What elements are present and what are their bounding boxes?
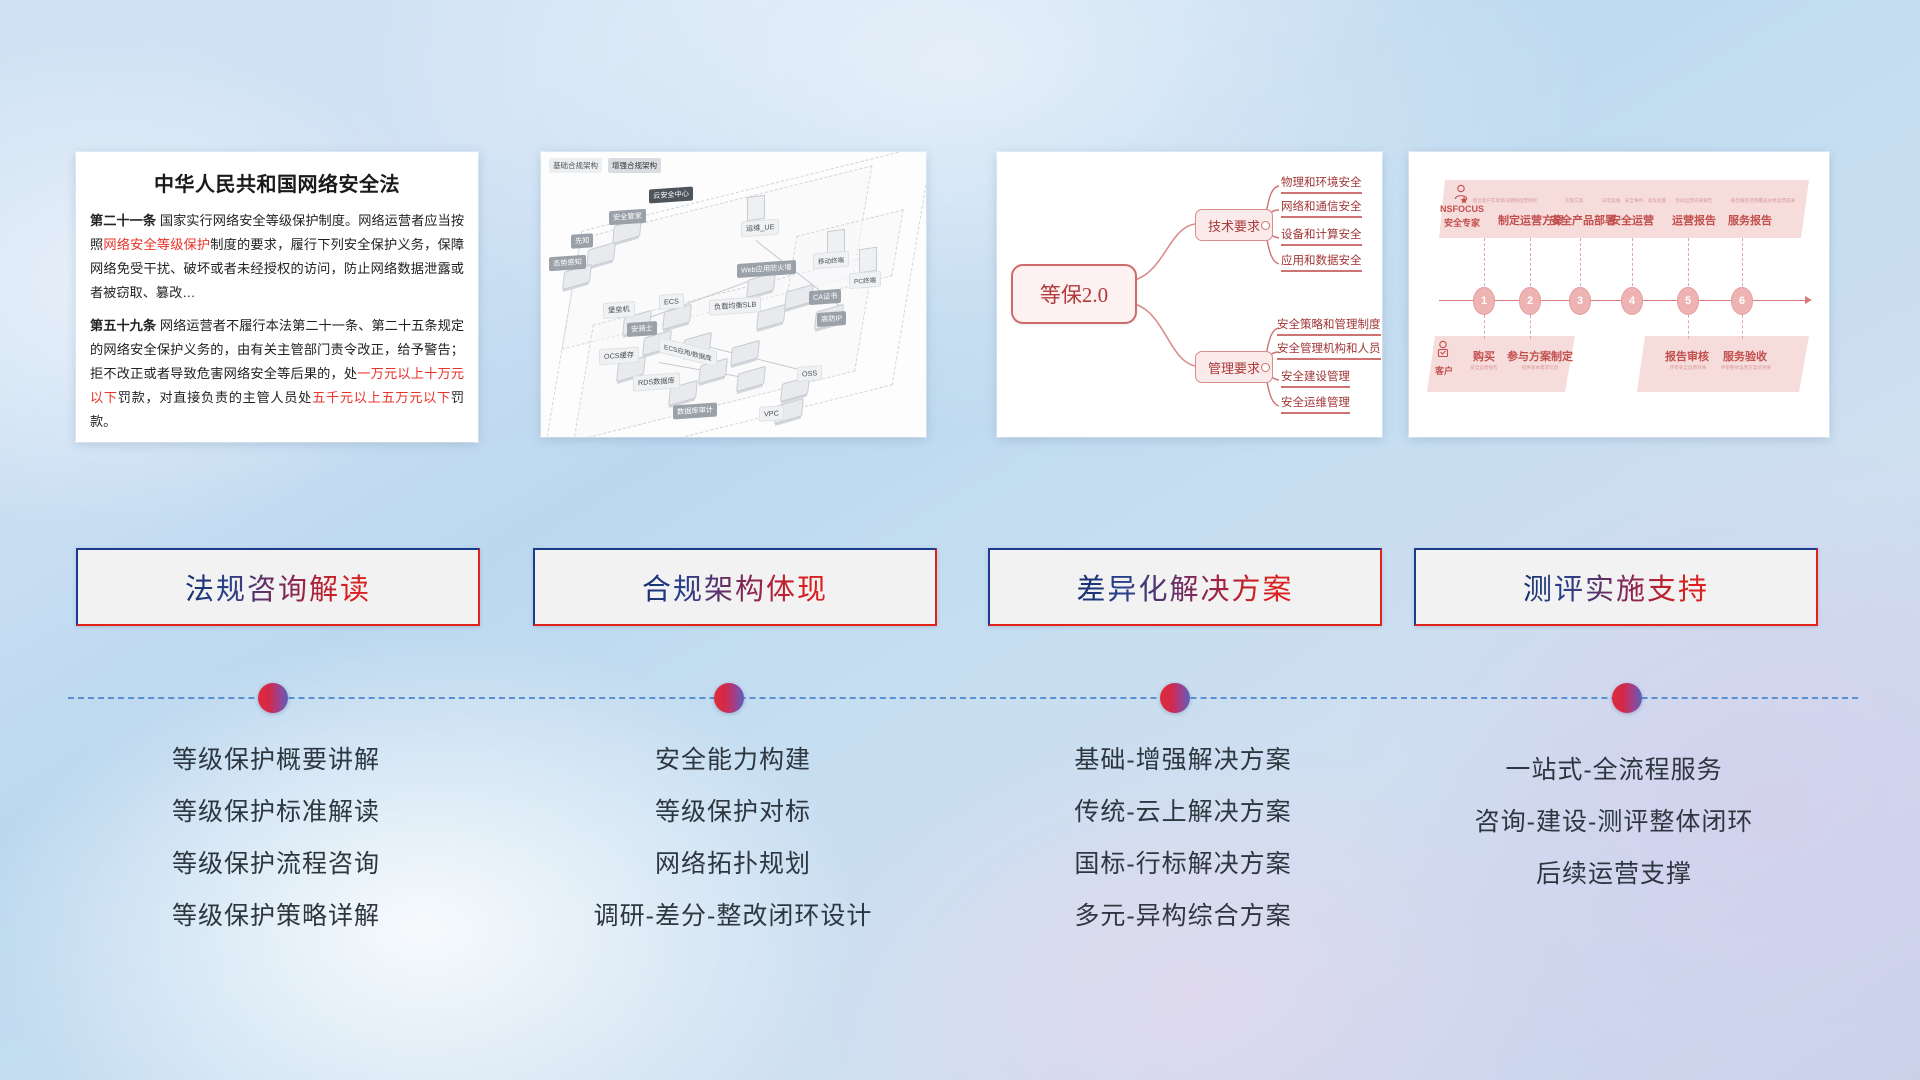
list-item: 后续运营支撑 <box>1414 862 1814 887</box>
arch-label-ocs-cache: OCS缓存 <box>599 347 639 366</box>
section-title-box-1[interactable]: 法规咨询解读 <box>76 548 480 626</box>
list-item: 安全能力构建 <box>533 748 933 773</box>
timeline-dash-3 <box>1580 238 1582 286</box>
list-item: 等级保护概要讲解 <box>76 748 476 773</box>
timeline-node-3[interactable]: 3 <box>1569 287 1591 315</box>
bottom-step-1-main: 购买 <box>1465 348 1503 364</box>
timeline-dash-1 <box>1484 238 1486 286</box>
arch-label-cloud-security-center: 云安全中心 <box>649 186 693 203</box>
customer-person-icon <box>1435 340 1451 360</box>
section-title-2: 合规架构体现 <box>642 566 828 608</box>
compliance-architecture-card[interactable]: 基础合规架构 增强合规架构 <box>541 152 926 437</box>
mindmap-leaf-construction-mgmt: 安全建设管理 <box>1281 368 1350 388</box>
timeline-dash-4 <box>1632 238 1634 286</box>
list-item: 等级保护标准解读 <box>76 800 476 825</box>
timeline-dash-b4 <box>1742 315 1744 339</box>
article-number-21: 第二十一条 <box>90 213 156 228</box>
list-item: 一站式-全流程服务 <box>1414 758 1814 783</box>
cybersecurity-law-card[interactable]: 中华人民共和国网络安全法 第二十一条 国家实行网络安全等级保护制度。网络运营者应… <box>76 152 478 442</box>
section-title-box-2[interactable]: 合规架构体现 <box>533 548 937 626</box>
timeline-node-2[interactable]: 2 <box>1519 287 1541 315</box>
arch-label-anqishi: 安骑士 <box>627 321 657 337</box>
preview-cards-row: 中华人民共和国网络安全法 第二十一条 国家实行网络安全等级保护制度。网络运营者应… <box>0 0 1920 460</box>
arch-icon-terminal-2 <box>859 247 877 274</box>
mindmap-root-node[interactable]: 等保2.0 <box>1011 264 1137 324</box>
expert-label-line2: 安全专家 <box>1439 216 1485 229</box>
timeline-arrow-icon <box>1805 296 1812 304</box>
timeline-node-4[interactable]: 4 <box>1621 287 1643 315</box>
list-item: 等级保护策略详解 <box>76 904 476 929</box>
arch-label-ca-cert: CA证书 <box>809 289 841 305</box>
bottom-step-3-main: 报告审核 <box>1661 348 1713 364</box>
timeline-dash-2 <box>1530 238 1532 286</box>
top-step-5-main: 服务报告 <box>1721 212 1779 228</box>
arch-label-oss: OSS <box>797 365 822 382</box>
bottom-step-2-main: 参与方案制定 <box>1507 348 1573 364</box>
top-step-1-sub: 结合客户实际情况明确运营目标 <box>1461 197 1549 203</box>
mindmap-leaf-app-data: 应用和数据安全 <box>1281 252 1362 272</box>
mindmap-leaf-ops-mgmt: 安全运维管理 <box>1281 394 1350 414</box>
customer-label: 客户 <box>1431 364 1457 377</box>
mindmap-leaf-policy-system: 安全策略和管理制度 <box>1277 316 1381 336</box>
section-title-1: 法规咨询解读 <box>185 566 371 608</box>
section-list-1: 等级保护概要讲解 等级保护标准解读 等级保护流程咨询 等级保护策略详解 <box>76 748 476 956</box>
bottom-step-4-main: 服务验收 <box>1719 348 1771 364</box>
mindmap-collapse-dot-management[interactable] <box>1261 363 1270 372</box>
architecture-diagram: 基础合规架构 增强合规架构 <box>541 152 926 437</box>
article-number-59: 第五十九条 <box>90 318 156 333</box>
timeline-band-expert <box>1439 180 1809 238</box>
timeline-dash-b3 <box>1688 315 1690 339</box>
timeline-marker-2[interactable] <box>714 683 744 713</box>
mindmap-leaf-device-compute: 设备和计算安全 <box>1281 226 1362 246</box>
arch-zone-outer <box>541 152 926 437</box>
section-title-box-4[interactable]: 测评实施支持 <box>1414 548 1818 626</box>
bottom-step-1-sub: 安全运营报告 <box>1457 364 1510 370</box>
tab-basic-compliance[interactable]: 基础合规架构 <box>549 158 602 173</box>
timeline-node-6[interactable]: 6 <box>1731 287 1753 315</box>
article-21-run-1-highlight: 网络安全等级保护 <box>103 237 210 252</box>
arch-label-bastion-host: 堡垒机 <box>603 301 635 319</box>
mindmap-leaf-physical-env: 物理和环境安全 <box>1281 174 1362 194</box>
list-item: 调研-差分-整改闭环设计 <box>533 904 933 929</box>
timeline-node-1[interactable]: 1 <box>1473 287 1495 315</box>
architecture-tabs: 基础合规架构 增强合规架构 <box>549 158 661 173</box>
arch-label-mobile-terminal: 移动终端 <box>813 251 849 270</box>
list-item: 多元-异构综合方案 <box>988 904 1378 929</box>
timeline-marker-1[interactable] <box>258 683 288 713</box>
arch-label-ecs: ECS <box>659 293 684 310</box>
arch-label-pc-terminal: PC终端 <box>849 271 881 289</box>
arch-label-security-steward: 安全管家 <box>609 209 646 226</box>
mindmap-leaf-org-personnel: 安全管理机构和人员 <box>1277 340 1381 360</box>
top-step-4-main: 运营报告 <box>1665 212 1723 228</box>
arch-icon-server-1 <box>747 195 765 222</box>
section-list-3: 基础-增强解决方案 传统-云上解决方案 国标-行标解决方案 多元-异构综合方案 <box>988 748 1378 956</box>
timeline-node-5[interactable]: 5 <box>1677 287 1699 315</box>
bottom-step-4-sub: 评审整体运营方案的效果 <box>1710 364 1782 370</box>
legal-paragraph-article-59: 第五十九条 网络运营者不履行本法第二十一条、第二十五条规定的网络安全保护义务的，… <box>90 314 464 434</box>
tab-enhanced-compliance[interactable]: 增强合规架构 <box>608 158 661 173</box>
section-title-4: 测评实施支持 <box>1523 566 1709 608</box>
mindmap-card[interactable]: 等保2.0 技术要求 管理要求 物理和环境安全 网络和通信安全 设备和计算安全 … <box>997 152 1382 437</box>
section-list-2: 安全能力构建 等级保护对标 网络拓扑规划 调研-差分-整改闭环设计 <box>533 748 933 956</box>
timeline-dash-b1 <box>1484 315 1486 339</box>
list-item: 基础-增强解决方案 <box>988 748 1378 773</box>
arch-label-rds: RDS数据库 <box>633 372 680 391</box>
timeline-marker-4[interactable] <box>1612 683 1642 713</box>
mindmap-diagram: 等保2.0 技术要求 管理要求 物理和环境安全 网络和通信安全 设备和计算安全 … <box>997 152 1382 437</box>
section-title-3: 差异化解决方案 <box>1076 566 1293 608</box>
mindmap-leaf-network-comm: 网络和通信安全 <box>1281 198 1362 218</box>
timeline-dash-5 <box>1688 238 1690 286</box>
bottom-step-2-sub: 提供基本需求信息 <box>1508 364 1572 370</box>
arch-label-situational-awareness: 态势感知 <box>549 255 586 272</box>
arch-label-anti-ddos-ip: 高防IP <box>817 311 846 327</box>
mindmap-collapse-dot-technical[interactable] <box>1261 221 1270 230</box>
arch-label-xianzhi: 先知 <box>571 233 593 249</box>
section-title-box-3[interactable]: 差异化解决方案 <box>988 548 1382 626</box>
timeline-dashed-line <box>68 697 1858 699</box>
top-step-5-sub: 输出服务范围覆盖总体运营成果 <box>1717 197 1809 203</box>
arch-label-vpc: VPC <box>759 405 784 422</box>
list-item: 等级保护对标 <box>533 800 933 825</box>
nsfocus-timeline-diagram: NSFOCUS 安全专家 客户 1 2 3 4 5 6 <box>1409 152 1829 437</box>
list-item: 网络拓扑规划 <box>533 852 933 877</box>
article-59-run-3-highlight: 五千元以上五万元以下 <box>312 390 451 405</box>
section-list-4: 一站式-全流程服务 咨询-建设-测评整体闭环 后续运营支撑 <box>1414 758 1814 914</box>
legal-card-title: 中华人民共和国网络安全法 <box>90 168 464 197</box>
nsfocus-timeline-card[interactable]: NSFOCUS 安全专家 客户 1 2 3 4 5 6 <box>1409 152 1829 437</box>
list-item: 传统-云上解决方案 <box>988 800 1378 825</box>
list-item: 等级保护流程咨询 <box>76 852 476 877</box>
timeline-dash-6 <box>1742 238 1744 286</box>
timeline-dash-b2 <box>1530 315 1532 339</box>
list-item: 国标-行标解决方案 <box>988 852 1378 877</box>
top-step-3-main: 安全运营 <box>1603 212 1661 228</box>
article-59-run-2: 罚款，对直接负责的主管人员处 <box>118 390 312 405</box>
list-item: 咨询-建设-测评整体闭环 <box>1414 810 1814 835</box>
arch-label-ops-ue: 运维_UE <box>741 219 779 238</box>
legal-card-body: 中华人民共和国网络安全法 第二十一条 国家实行网络安全等级保护制度。网络运营者应… <box>76 152 478 442</box>
timeline-marker-3[interactable] <box>1160 683 1190 713</box>
slide-canvas: 中华人民共和国网络安全法 第二十一条 国家实行网络安全等级保护制度。网络运营者应… <box>0 0 1920 1080</box>
legal-paragraph-article-21: 第二十一条 国家实行网络安全等级保护制度。网络运营者应当按照网络安全等级保护制度… <box>90 209 464 305</box>
expert-label-line1: NSFOCUS <box>1439 204 1485 214</box>
